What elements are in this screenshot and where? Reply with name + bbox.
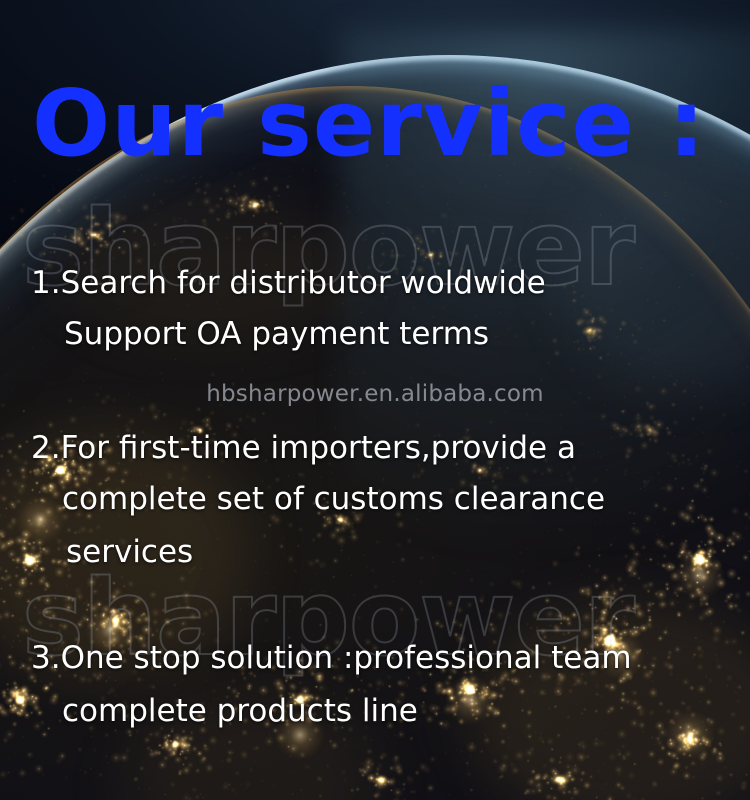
page-title: Our service : [32,78,706,170]
service-item-2-line-2: complete set of customs clearance [62,484,605,515]
service-item-3-line-2: complete products line [62,696,418,727]
service-item-3-line-1: 3.One stop solution :professional team [31,643,632,674]
service-item-2-line-1: 2.For first-time importers,provide a [31,433,576,464]
service-poster: sharpower sharpower hbsharpower.en.aliba… [0,0,750,800]
service-item-2-line-3: services [66,537,193,568]
service-item-1-line-2: Support OA payment terms [64,319,489,350]
service-item-1-line-1: 1.Search for distributor woldwide [31,268,546,299]
